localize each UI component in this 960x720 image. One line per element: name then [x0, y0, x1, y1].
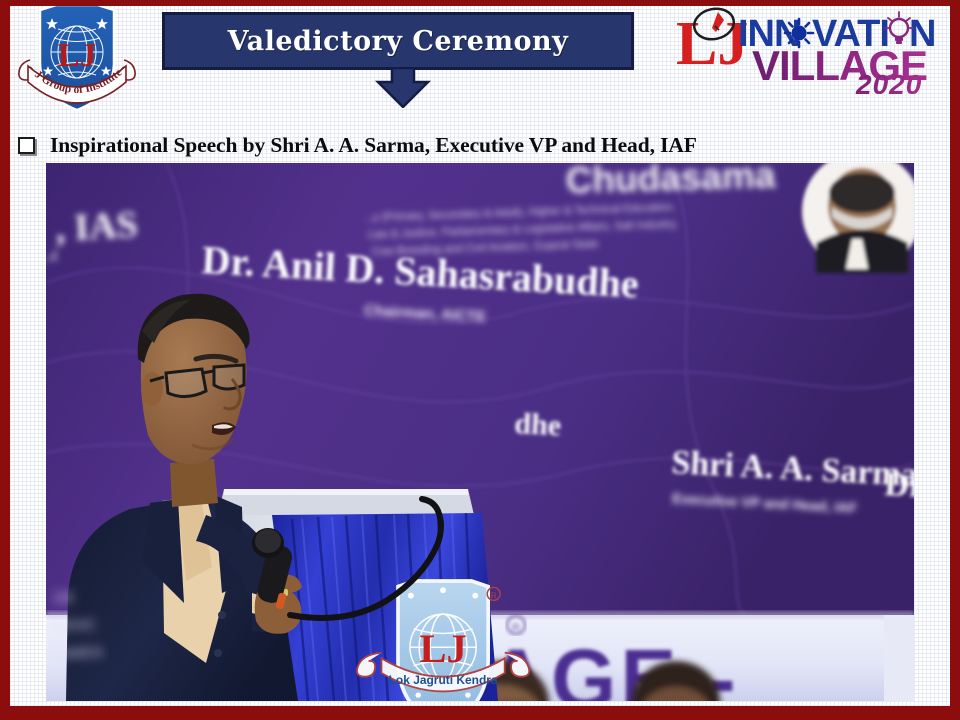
svg-text:DE: DE [54, 589, 75, 607]
frame-border-left [0, 0, 10, 720]
lj-group-of-institutes-logo: LJ LJ Group of Institutes [16, 4, 138, 116]
svg-text:, IAS: , IAS [54, 204, 138, 250]
hollow-square-bullet-icon [18, 137, 35, 154]
slide-title-banner: Valedictory Ceremony [162, 12, 634, 70]
bullet-item-label: Inspirational Speech by Shri A. A. Sarma… [50, 133, 697, 158]
iv-year-text: 2020 [855, 69, 922, 94]
crest-monogram: LJ [58, 38, 97, 74]
page-title: Valedictory Ceremony [228, 26, 569, 57]
frame-border-bottom [0, 706, 960, 720]
svg-text:CIENC: CIENC [50, 616, 97, 635]
down-arrow-icon [374, 68, 432, 108]
svg-text:Dr.: Dr. [884, 466, 914, 505]
bullet-item: Inspirational Speech by Shri A. A. Sarma… [18, 130, 928, 160]
frame-border-right [950, 0, 960, 720]
svg-text:RNMEN: RNMEN [48, 644, 104, 663]
svg-text:LJ: LJ [419, 626, 466, 671]
frame-border-top [0, 0, 960, 6]
svg-text:Lok Jagruti Kendra: Lok Jagruti Kendra [389, 673, 498, 687]
svg-text:...d: ...d [46, 249, 58, 265]
svg-text:R: R [512, 622, 520, 634]
svg-text:Chudasama: Chudasama [565, 163, 776, 201]
ceremony-photograph: Chudasama ...y (Primary, Secondary & Adu… [46, 163, 914, 701]
slide-canvas: Chudasama ...y (Primary, Secondary & Adu… [0, 0, 960, 720]
svg-text:dhe: dhe [514, 407, 562, 442]
innovation-village-2020-logo: LJ INN VATI N [672, 2, 954, 94]
svg-text:R: R [491, 591, 497, 600]
